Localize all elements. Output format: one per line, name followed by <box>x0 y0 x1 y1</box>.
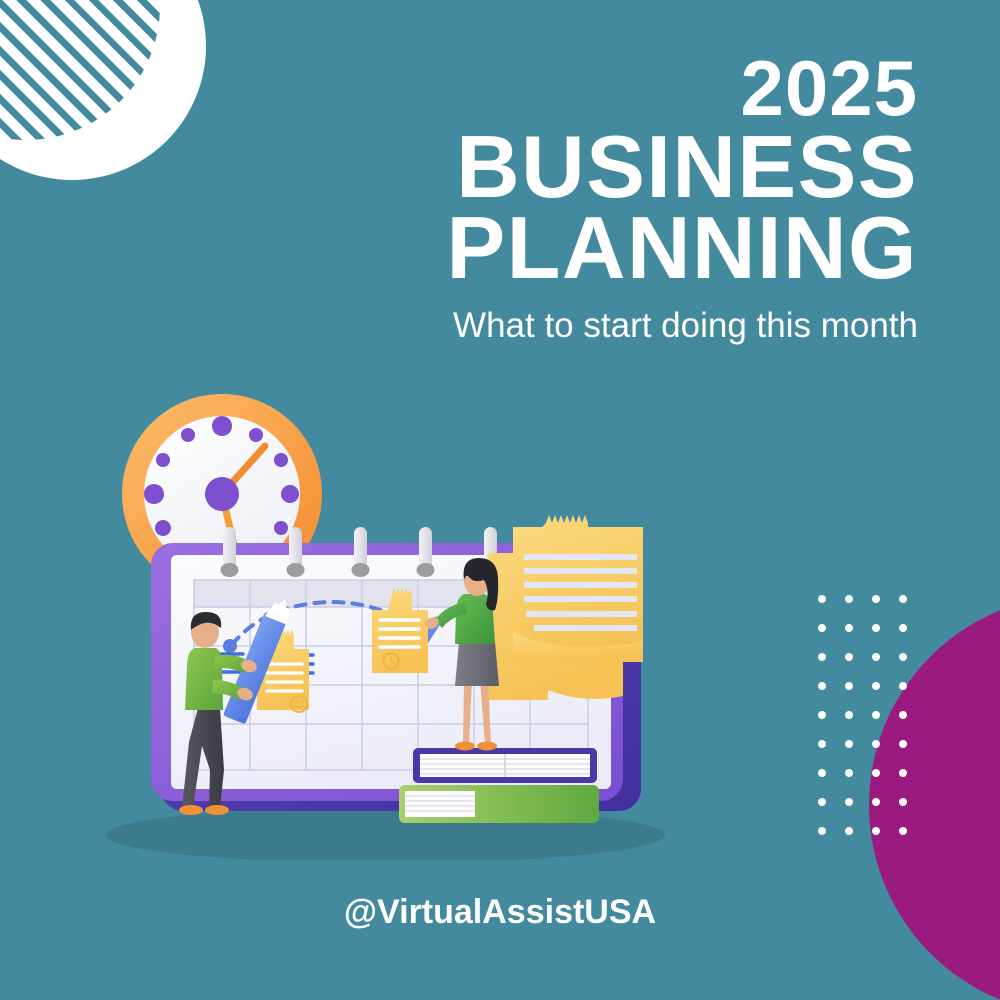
grid-dot <box>899 798 907 806</box>
headline-subtitle: What to start doing this month <box>318 307 918 346</box>
grid-dot <box>872 769 880 777</box>
grid-dot <box>818 827 826 835</box>
grid-dot <box>818 740 826 748</box>
purple-book <box>413 748 597 783</box>
poster-canvas: 2025 BUSINESS PLANNING What to start doi… <box>0 0 1000 1000</box>
grid-dot <box>872 624 880 632</box>
grid-dot <box>818 595 826 603</box>
grid-dot <box>818 682 826 690</box>
grid-dot <box>899 595 907 603</box>
social-handle: @VirtualAssistUSA <box>0 893 1000 932</box>
grid-dot <box>818 711 826 719</box>
woman-skirt <box>455 642 499 686</box>
grid-dot <box>818 653 826 661</box>
illustration <box>95 380 665 860</box>
clock-center-hub <box>205 477 239 511</box>
grid-dot <box>872 595 880 603</box>
bottom-right-magenta-circle <box>869 595 1000 1000</box>
grid-dot <box>818 798 826 806</box>
grid-dot <box>845 682 853 690</box>
grid-dot <box>845 711 853 719</box>
grid-dot <box>899 711 907 719</box>
green-book <box>399 785 599 823</box>
grid-dot <box>872 711 880 719</box>
grid-dot <box>845 798 853 806</box>
grid-dot <box>899 624 907 632</box>
grid-dot <box>845 740 853 748</box>
man-shoe-right <box>205 805 229 815</box>
man-shoe-left <box>179 805 203 815</box>
grid-dot <box>818 769 826 777</box>
grid-dot <box>899 653 907 661</box>
large-sticky-note <box>488 515 643 700</box>
grid-dot <box>845 653 853 661</box>
grid-dot <box>872 653 880 661</box>
headline-line-3: PLANNING <box>318 208 918 289</box>
grid-dot <box>899 740 907 748</box>
grid-dot <box>845 769 853 777</box>
grid-dot <box>845 624 853 632</box>
headline-year: 2025 <box>318 52 918 125</box>
grid-dot <box>818 624 826 632</box>
book-stack <box>399 748 599 823</box>
grid-dot <box>899 769 907 777</box>
grid-dot <box>845 595 853 603</box>
arc-start-dot <box>223 639 237 653</box>
grid-dot <box>872 682 880 690</box>
grid-dot <box>872 827 880 835</box>
grid-dot <box>845 827 853 835</box>
grid-dot <box>899 827 907 835</box>
woman-shoe-right <box>477 742 497 751</box>
grid-dot <box>872 798 880 806</box>
headline-line-2: BUSINESS <box>318 127 918 208</box>
grid-dot <box>872 740 880 748</box>
headline-block: 2025 BUSINESS PLANNING What to start doi… <box>318 52 918 346</box>
woman-shoe-left <box>455 742 475 751</box>
grid-dot <box>899 682 907 690</box>
